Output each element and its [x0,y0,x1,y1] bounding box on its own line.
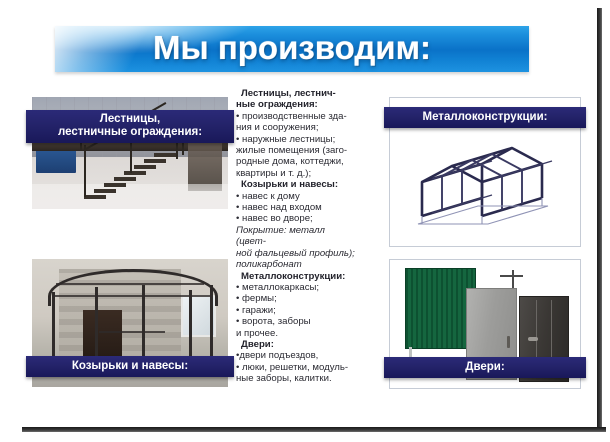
card-stairs[interactable]: Лестницы, лестничные ограждения: [32,97,228,209]
product-group: Двери:•двери подъездов,• люки, решетки, … [236,339,356,385]
product-group-heading: Козырьки и навесы: [236,179,356,190]
card-canopy-caption: Козырьки и навесы: [26,356,234,377]
page-title: Мы производим: [55,29,529,67]
product-list-item: • металлокаркасы; [236,282,356,293]
card-metal-frame-caption: Металлоконструкции: [384,107,586,128]
product-group-heading: ные ограждения: [236,99,356,110]
product-list-item: • гаражи; [236,305,356,316]
card-stairs-caption: Лестницы, лестничные ограждения: [26,110,234,143]
caption-line-1: Козырьки и навесы: [26,360,234,373]
card-canopy[interactable]: Козырьки и навесы: [32,259,228,387]
card-metal-frame[interactable]: Металлоконструкции: [389,97,581,247]
product-group-heading: Металлоконструкции: [236,271,356,282]
product-group: Металлоконструкции:• металлокаркасы;• фе… [236,271,356,339]
product-list-item: •двери подъездов, [236,350,356,361]
product-list-item: жилые помещения (заго- [236,145,356,156]
caption-line-1: Лестницы, [26,113,234,126]
caption-line-1: Металлоконструкции: [384,111,586,124]
page-edge-bottom [22,427,606,432]
product-list-item: и прочее. [236,328,356,339]
product-list-item: • фермы; [236,293,356,304]
product-list-item: • навес во дворе; [236,213,356,224]
page-edge-right [597,8,602,432]
product-list-item: • производственные зда- [236,111,356,122]
product-list-item: ния и сооружения; [236,122,356,133]
product-list-item: ные заборы, калитки. [236,373,356,384]
product-group: Лестницы, лестнич-ные ограждения:• произ… [236,88,356,179]
caption-line-2: лестничные ограждения: [26,126,234,139]
product-note: поликарбонат [236,259,356,270]
product-group-heading: Лестницы, лестнич- [236,88,356,99]
product-group-heading: Двери: [236,339,356,350]
product-list-item: квартиры и т. д.); [236,168,356,179]
stair-treads [84,147,180,199]
card-doors-caption: Двери: [384,357,586,378]
card-doors[interactable]: Двери: [389,259,581,389]
product-list-item: • люки, решетки, модуль- [236,362,356,373]
product-group: Козырьки и навесы:• навес к дому• навес … [236,179,356,270]
product-list-item: • навес к дому [236,191,356,202]
product-list-text: Лестницы, лестнич-ные ограждения:• произ… [236,88,356,385]
product-list-item: родные дома, коттеджи, [236,156,356,167]
product-note: Покрытие: металл (цвет- [236,225,356,248]
poster-page: Мы производим: [0,0,610,442]
product-list-item: • ворота, заборы [236,316,356,327]
product-list-item: • наружные лестницы; [236,134,356,145]
caption-line-1: Двери: [384,361,586,374]
product-note: ной фальцевый профиль); [236,248,356,259]
product-list-item: • навес над входом [236,202,356,213]
header-banner: Мы производим: [55,26,529,72]
